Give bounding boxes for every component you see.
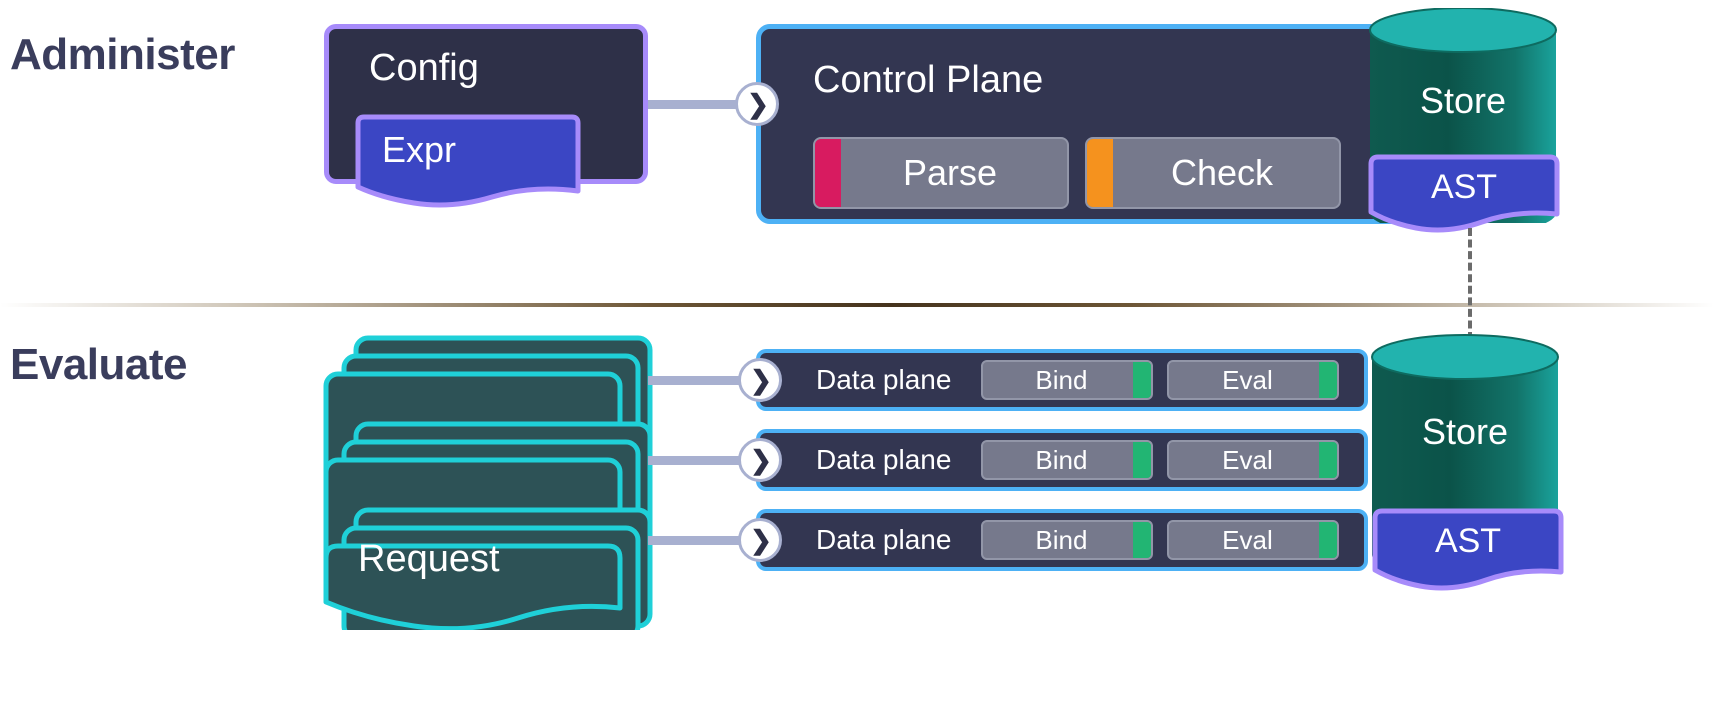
diagram-canvas: Administer Evaluate Config Expr ❯ Contro… [0,0,1714,705]
stage-bind-label: Bind [983,525,1133,556]
data-plane-row[interactable]: Data plane Bind Eval [756,429,1368,491]
stage-eval[interactable]: Eval [1167,440,1339,480]
stage-accent-bar [815,139,841,207]
data-plane-title: Data plane [816,444,951,476]
band-label-evaluate: Evaluate [10,340,187,390]
stage-eval-label: Eval [1169,445,1319,476]
stage-eval[interactable]: Eval [1167,360,1339,400]
chevron-right-icon[interactable]: ❯ [738,518,782,562]
request-to-dataplane-connector-0 [648,376,744,385]
stage-eval-label: Eval [1169,525,1319,556]
stage-bind-label: Bind [983,445,1133,476]
stage-bind[interactable]: Bind [981,440,1153,480]
ast-sync-dashed-connector [1468,228,1472,340]
control-plane-panel[interactable]: Control Plane Parse Check [756,24,1468,224]
stage-accent-bar [1319,362,1337,398]
stage-check-label: Check [1113,152,1339,194]
stage-accent-bar [1319,522,1337,558]
data-plane-row[interactable]: Data plane Bind Eval [756,509,1368,571]
request-stack[interactable]: Request [318,330,658,630]
request-to-dataplane-connector-2 [648,536,744,545]
stage-accent-bar [1133,362,1151,398]
data-plane-title: Data plane [816,524,951,556]
data-plane-row[interactable]: Data plane Bind Eval [756,349,1368,411]
ast-document-administer[interactable]: AST [1366,152,1562,240]
stage-check[interactable]: Check [1085,137,1341,209]
control-plane-title: Control Plane [813,59,1043,102]
chevron-right-icon[interactable]: ❯ [735,82,779,126]
ast-document-evaluate[interactable]: AST [1370,506,1566,600]
stage-accent-bar [1133,522,1151,558]
chevron-right-icon[interactable]: ❯ [738,358,782,402]
stage-parse-label: Parse [841,152,1067,194]
config-title: Config [369,47,479,90]
stage-eval[interactable]: Eval [1167,520,1339,560]
chevron-right-icon[interactable]: ❯ [738,438,782,482]
config-to-control-connector [648,100,743,109]
stage-accent-bar [1319,442,1337,478]
stage-bind[interactable]: Bind [981,360,1153,400]
data-plane-title: Data plane [816,364,951,396]
band-divider [0,303,1714,307]
stage-parse[interactable]: Parse [813,137,1069,209]
band-label-administer: Administer [10,30,235,80]
stage-eval-label: Eval [1169,365,1319,396]
request-to-dataplane-connector-1 [648,456,744,465]
stage-accent-bar [1087,139,1113,207]
stage-accent-bar [1133,442,1151,478]
stage-bind[interactable]: Bind [981,520,1153,560]
stage-bind-label: Bind [983,365,1133,396]
expr-document[interactable]: Expr [352,113,584,213]
